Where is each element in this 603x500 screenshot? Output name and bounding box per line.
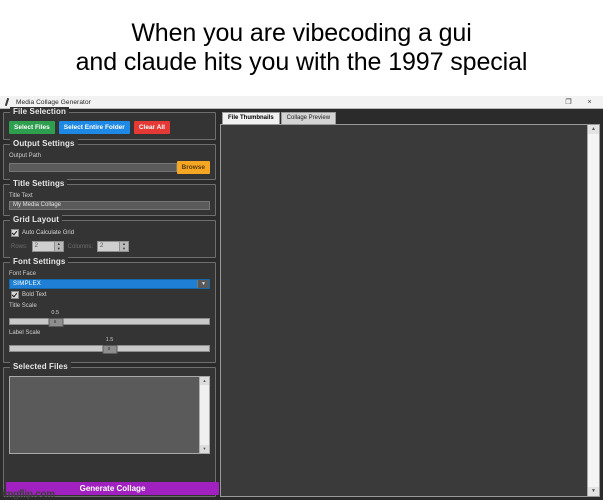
title-scale-label: Title Scale <box>9 303 210 309</box>
tab-collage-preview[interactable]: Collage Preview <box>281 112 336 124</box>
title-scale-value: 0.5 <box>51 310 59 316</box>
auto-calculate-grid-label: Auto Calculate Grid <box>22 230 74 236</box>
clear-all-button[interactable]: Clear All <box>134 121 170 134</box>
font-face-select[interactable]: SIMPLEX ▼ <box>9 279 210 289</box>
file-selection-title: File Selection <box>10 107 69 116</box>
meme-caption-line-1: When you are vibecoding a gui <box>131 19 471 48</box>
title-text-label: Title Text <box>9 193 210 199</box>
scroll-up-icon[interactable]: ▲ <box>588 125 599 134</box>
window-title: Media Collage Generator <box>16 99 564 106</box>
columns-label: Columns: <box>68 244 93 250</box>
window-titlebar[interactable]: Media Collage Generator ❐ × <box>0 96 603 109</box>
title-text-input[interactable]: My Media Collage <box>9 201 210 210</box>
grid-layout-group: Grid Layout Auto Calculate Grid Rows: 2 … <box>3 220 216 258</box>
checkmark-icon <box>11 229 19 237</box>
label-scale-slider[interactable] <box>9 345 210 352</box>
scroll-down-icon[interactable]: ▼ <box>200 445 209 453</box>
scroll-up-icon[interactable]: ▲ <box>200 377 209 385</box>
rows-stepper-arrows[interactable]: ▲ ▼ <box>54 242 63 251</box>
font-face-label: Font Face <box>9 271 210 277</box>
thumbnail-canvas[interactable] <box>221 125 587 496</box>
title-settings-title: Title Settings <box>10 179 67 188</box>
maximize-icon[interactable]: ❐ <box>564 98 573 107</box>
select-files-button[interactable]: Select Files <box>9 121 55 134</box>
output-path-input[interactable] <box>9 163 177 172</box>
imgflip-watermark: imgflip.com <box>2 489 55 500</box>
rows-value: 2 <box>33 242 54 251</box>
label-scale-label: Label Scale <box>9 330 210 336</box>
label-scale-block: Label Scale 1.5 <box>9 330 210 352</box>
font-face-value: SIMPLEX <box>10 281 197 287</box>
left-control-panel: File Selection Select Files Select Entir… <box>3 112 216 497</box>
font-settings-title: Font Settings <box>10 257 68 266</box>
browse-button[interactable]: Browse <box>177 161 210 174</box>
preview-panel: File Thumbnails Collage Preview ▲ ▼ <box>220 112 600 497</box>
select-entire-folder-button[interactable]: Select Entire Folder <box>59 121 130 134</box>
columns-value: 2 <box>98 242 119 251</box>
title-scale-block: Title Scale 0.5 <box>9 303 210 325</box>
selected-files-title: Selected Files <box>10 362 71 371</box>
app-window: Media Collage Generator ❐ × File Selecti… <box>0 96 603 500</box>
columns-stepper[interactable]: 2 ▲ ▼ <box>97 241 129 252</box>
tab-file-thumbnails[interactable]: File Thumbnails <box>222 112 280 124</box>
title-scale-slider[interactable] <box>9 318 210 325</box>
rows-stepper[interactable]: 2 ▲ ▼ <box>32 241 64 252</box>
meme-caption: When you are vibecoding a gui and claude… <box>0 0 603 96</box>
label-scale-value: 1.5 <box>106 337 114 343</box>
title-scale-slider-thumb[interactable] <box>48 318 63 327</box>
chevron-down-icon[interactable]: ▼ <box>197 280 209 288</box>
title-settings-group: Title Settings Title Text My Media Colla… <box>3 184 216 216</box>
auto-calculate-grid-checkbox[interactable]: Auto Calculate Grid <box>11 229 210 237</box>
preview-area: ▲ ▼ <box>220 124 600 497</box>
label-scale-slider-thumb[interactable] <box>102 345 117 354</box>
chevron-down-icon[interactable]: ▼ <box>120 247 128 252</box>
chevron-down-icon[interactable]: ▼ <box>55 247 63 252</box>
selected-files-list-area[interactable] <box>10 377 199 453</box>
bold-text-label: Bold Text <box>22 292 47 298</box>
output-path-label: Output Path <box>9 153 210 159</box>
preview-tabstrip: File Thumbnails Collage Preview <box>220 112 600 124</box>
font-settings-group: Font Settings Font Face SIMPLEX ▼ Bold T… <box>3 262 216 363</box>
app-body: File Selection Select Files Select Entir… <box>0 109 603 500</box>
checkmark-icon <box>11 291 19 299</box>
bold-text-checkbox[interactable]: Bold Text <box>11 291 210 299</box>
columns-stepper-arrows[interactable]: ▲ ▼ <box>119 242 128 251</box>
output-settings-title: Output Settings <box>10 139 78 148</box>
preview-scrollbar[interactable]: ▲ ▼ <box>587 125 599 496</box>
output-settings-group: Output Settings Output Path Browse <box>3 144 216 180</box>
file-selection-group: File Selection Select Files Select Entir… <box>3 112 216 140</box>
rows-label: Rows: <box>11 244 28 250</box>
window-controls: ❐ × <box>564 98 600 107</box>
app-icon <box>3 98 12 107</box>
selected-files-list[interactable]: ▲ ▼ <box>9 376 210 454</box>
grid-layout-title: Grid Layout <box>10 215 62 224</box>
selected-files-scrollbar[interactable]: ▲ ▼ <box>199 377 209 453</box>
meme-caption-line-2: and claude hits you with the 1997 specia… <box>76 48 528 77</box>
scroll-down-icon[interactable]: ▼ <box>588 487 599 496</box>
close-icon[interactable]: × <box>585 98 594 107</box>
